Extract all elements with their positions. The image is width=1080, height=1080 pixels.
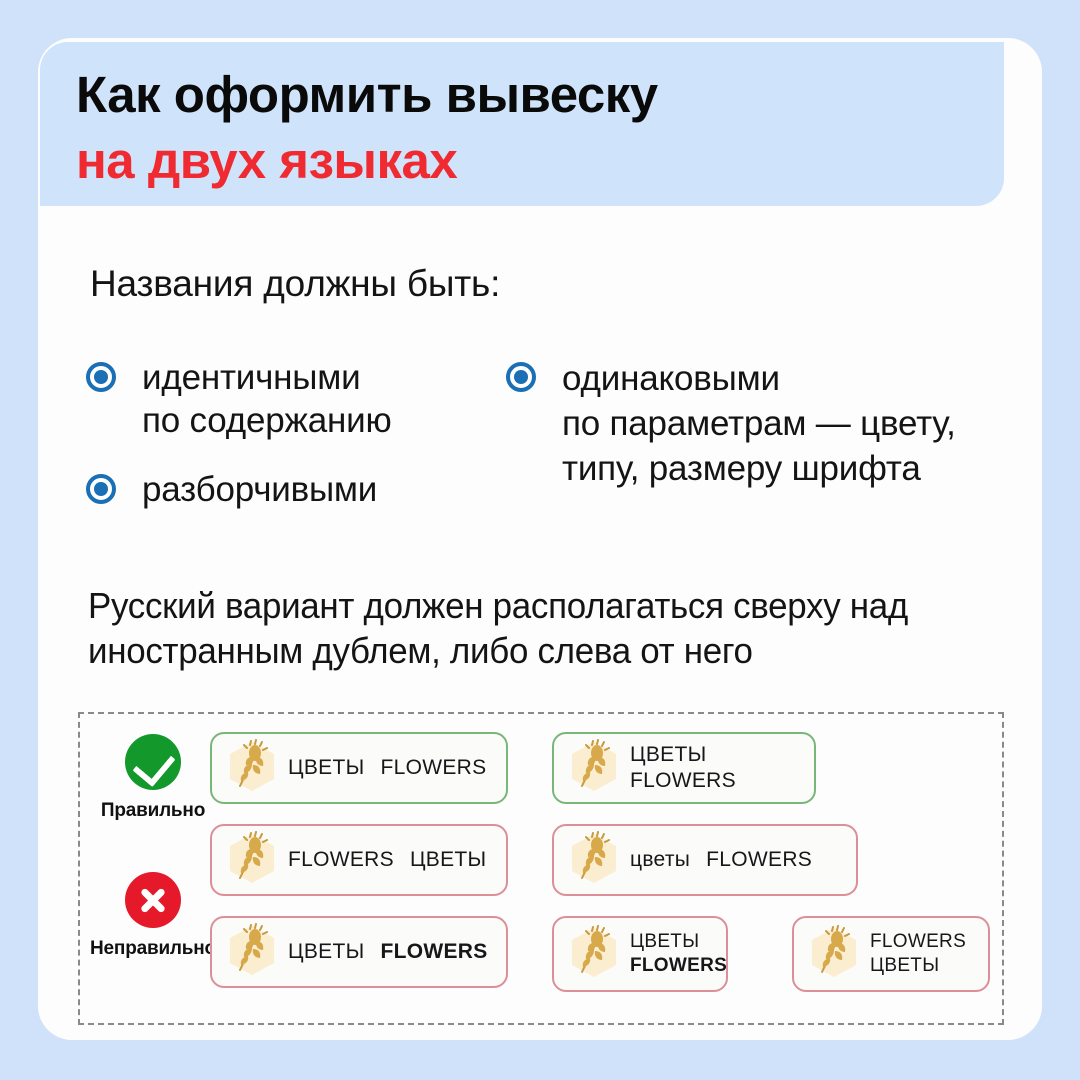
requirements-column-right: одинаковымипо параметрам — цвету,типу, р…	[506, 356, 1026, 517]
verdict-correct: Правильно	[88, 734, 218, 822]
sign-text: ЦВЕТЫFLOWERS	[288, 939, 488, 965]
sign-example-bad-2: цветыFLOWERS	[552, 824, 858, 896]
wheat-sprig-icon	[226, 923, 278, 981]
list-item: идентичнымипо содержанию	[86, 356, 506, 442]
wheat-sprig-icon	[568, 831, 620, 889]
sign-text-segment: FLOWERS	[380, 755, 486, 781]
title-line-2: на двух языках	[76, 128, 1004, 194]
verdict-incorrect: Неправильно	[88, 872, 218, 960]
infographic-page: Как оформить вывеску на двух языках Назв…	[0, 0, 1080, 1080]
sign-text-segment: FLOWERS	[380, 939, 487, 965]
check-icon	[125, 734, 181, 790]
sign-text-segment: ЦВЕТЫ	[870, 954, 966, 978]
sign-text-segment: FLOWERS	[706, 847, 812, 873]
sign-text-segment: FLOWERS	[630, 954, 727, 978]
sign-example-bad-3: ЦВЕТЫFLOWERS	[210, 916, 508, 988]
sign-text-segment: ЦВЕТЫ	[630, 930, 727, 954]
sign-text-segment: ЦВЕТЫ	[630, 742, 736, 768]
sign-text: FLOWERSЦВЕТЫ	[870, 930, 966, 978]
sign-text: FLOWERSЦВЕТЫ	[288, 847, 486, 873]
sign-text-segment: ЦВЕТЫ	[410, 847, 486, 873]
radio-bullet-icon	[506, 362, 536, 392]
list-item-label: одинаковымипо параметрам — цвету,типу, р…	[562, 359, 956, 488]
list-item-label: идентичнымипо содержанию	[142, 358, 392, 440]
wheat-sprig-icon	[226, 831, 278, 889]
radio-bullet-icon	[86, 362, 116, 392]
intro-text: Названия должны быть:	[90, 263, 500, 305]
sign-text-segment: FLOWERS	[630, 768, 736, 794]
sign-example-ok-1: ЦВЕТЫFLOWERS	[210, 732, 508, 804]
sign-text-segment: FLOWERS	[288, 847, 394, 873]
wheat-sprig-icon	[568, 925, 620, 983]
sign-example-bad-4: ЦВЕТЫFLOWERS	[552, 916, 728, 992]
sign-text: ЦВЕТЫFLOWERS	[630, 742, 736, 794]
list-item: одинаковымипо параметрам — цвету,типу, р…	[506, 356, 1026, 491]
wheat-sprig-icon	[808, 925, 860, 983]
title-line-1: Как оформить вывеску	[76, 62, 1004, 128]
sign-text-segment: ЦВЕТЫ	[288, 939, 364, 965]
list-item-label: разборчивыми	[142, 470, 377, 509]
wheat-sprig-icon	[226, 739, 278, 797]
sign-text: ЦВЕТЫFLOWERS	[288, 755, 486, 781]
placement-paragraph: Русский вариант должен располагаться све…	[88, 583, 980, 673]
title-banner: Как оформить вывеску на двух языках	[40, 42, 1004, 206]
sign-text: цветыFLOWERS	[630, 847, 812, 873]
verdict-incorrect-label: Неправильно	[88, 938, 218, 960]
requirements-column-left: идентичнымипо содержанию разборчивыми	[86, 356, 506, 537]
sign-text-segment: FLOWERS	[870, 930, 966, 954]
sign-text-segment: ЦВЕТЫ	[288, 755, 364, 781]
sign-example-bad-1: FLOWERSЦВЕТЫ	[210, 824, 508, 896]
sign-example-bad-5: FLOWERSЦВЕТЫ	[792, 916, 990, 992]
verdict-correct-label: Правильно	[88, 800, 218, 822]
wheat-sprig-icon	[568, 739, 620, 797]
sign-example-ok-2: ЦВЕТЫFLOWERS	[552, 732, 816, 804]
sign-text: ЦВЕТЫFLOWERS	[630, 930, 727, 978]
sign-text-segment: цветы	[630, 847, 690, 873]
cross-icon	[125, 872, 181, 928]
radio-bullet-icon	[86, 474, 116, 504]
examples-panel: Правильно Неправильно ЦВЕТЫFLOWERS ЦВЕТЫ…	[78, 712, 1004, 1025]
list-item: разборчивыми	[86, 468, 506, 511]
